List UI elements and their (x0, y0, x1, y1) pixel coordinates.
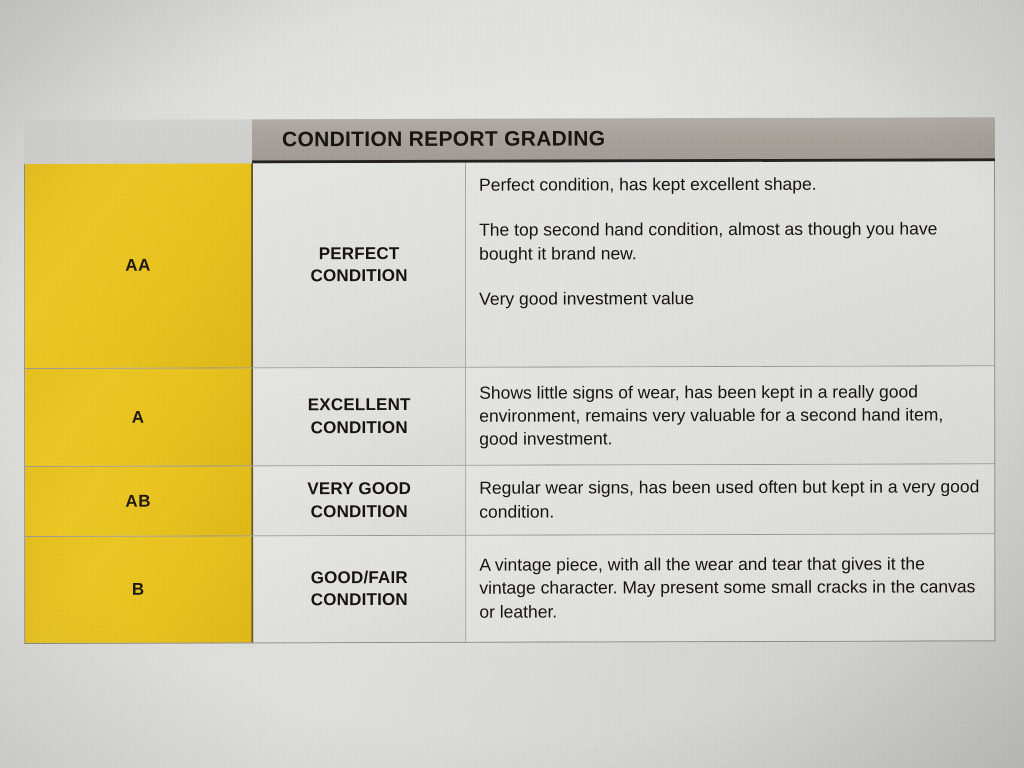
grade-label: B (132, 580, 145, 600)
description-paragraph: Regular wear signs, has been used often … (479, 476, 980, 524)
grade-label: A (132, 407, 145, 427)
description-cell-aa: Perfect condition, has kept excellent sh… (466, 161, 994, 366)
condition-label-line1: VERY GOOD (307, 479, 411, 498)
page-title: CONDITION REPORT GRADING (282, 127, 605, 152)
table-row: AA PERFECT CONDITION Perfect condition, … (25, 161, 994, 369)
condition-label-line2: CONDITION (311, 590, 408, 609)
condition-label-line2: CONDITION (311, 501, 408, 520)
grade-label: AA (125, 256, 151, 276)
grading-grid: AA PERFECT CONDITION Perfect condition, … (24, 161, 995, 644)
grade-label: AB (125, 491, 151, 511)
condition-label-line2: CONDITION (311, 417, 408, 436)
condition-label-line1: GOOD/FAIR (311, 567, 408, 586)
table-row: B GOOD/FAIR CONDITION A vintage piece, w… (25, 534, 994, 643)
description-cell-b: A vintage piece, with all the wear and t… (466, 534, 994, 641)
grade-cell-b: B (25, 536, 253, 643)
table-title-bar: CONDITION REPORT GRADING (252, 117, 995, 163)
description-paragraph: Very good investment value (479, 286, 980, 311)
condition-label-line1: EXCELLENT (308, 395, 411, 414)
grade-cell-a: A (25, 368, 253, 466)
description-cell-ab: Regular wear signs, has been used often … (466, 464, 994, 534)
condition-name-cell-aa: PERFECT CONDITION (253, 163, 466, 368)
description-paragraph: Perfect condition, has kept excellent sh… (479, 172, 980, 197)
description-paragraph: A vintage piece, with all the wear and t… (479, 552, 980, 623)
condition-name-cell-b: GOOD/FAIR CONDITION (253, 536, 466, 643)
condition-label: GOOD/FAIR CONDITION (311, 566, 408, 611)
grade-cell-ab: AB (25, 466, 253, 536)
table-row: AB VERY GOOD CONDITION Regular wear sign… (25, 464, 994, 537)
grade-cell-aa: AA (25, 163, 253, 368)
description-paragraph: Shows little signs of wear, has been kep… (479, 380, 980, 451)
condition-label-line2: CONDITION (311, 266, 408, 285)
condition-name-cell-a: EXCELLENT CONDITION (253, 368, 466, 466)
title-bar-left-spacer (24, 119, 252, 164)
description-paragraph: The top second hand condition, almost as… (479, 218, 980, 266)
condition-name-cell-ab: VERY GOOD CONDITION (253, 466, 466, 536)
condition-label-line1: PERFECT (319, 244, 400, 263)
condition-label: PERFECT CONDITION (310, 242, 407, 287)
condition-label: EXCELLENT CONDITION (308, 394, 411, 439)
condition-report-grading-table: CONDITION REPORT GRADING AA PERFECT COND… (24, 117, 995, 644)
photographed-document: CONDITION REPORT GRADING AA PERFECT COND… (0, 0, 1024, 768)
condition-label: VERY GOOD CONDITION (307, 478, 411, 523)
description-cell-a: Shows little signs of wear, has been kep… (466, 366, 994, 464)
table-row: A EXCELLENT CONDITION Shows little signs… (25, 366, 994, 467)
